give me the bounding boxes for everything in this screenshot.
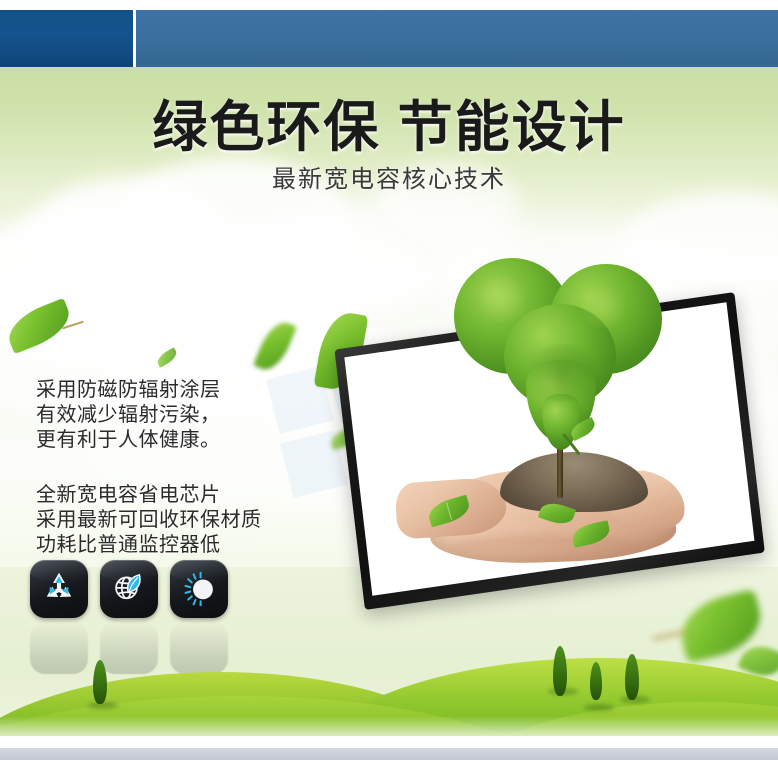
eco-badge-recycle[interactable]	[30, 560, 88, 618]
banner-left-block	[0, 10, 133, 67]
eco-badge-sun[interactable]	[170, 560, 228, 618]
feature-line: 功耗比普通监控器低	[36, 533, 262, 558]
top-blue-banner	[0, 10, 778, 67]
feature-text-anti-radiation: 采用防磁防辐射涂层 有效减少辐射污染， 更有利于人体健康。	[36, 378, 221, 453]
bottom-gray-bar	[0, 748, 778, 760]
headline-area: 绿色环保 节能设计 最新宽电容核心技术	[0, 96, 778, 195]
feature-line: 有效减少辐射污染，	[36, 403, 221, 428]
bottom-white-gap	[0, 736, 778, 748]
promo-banner-page: jou 绿色环保 节能设计 最新宽电容核心技术 采用防磁防辐射涂层 有效减少辐射…	[0, 0, 778, 760]
feature-line: 全新宽电容省电芯片	[36, 483, 262, 508]
feature-line: 更有利于人体健康。	[36, 428, 221, 453]
banner-right-block	[136, 10, 778, 67]
feature-line: 采用防磁防辐射涂层	[36, 378, 221, 403]
page-subtitle: 最新宽电容核心技术	[0, 165, 778, 195]
globe-leaf-icon	[109, 567, 149, 612]
recycle-icon	[40, 568, 78, 611]
feature-text-power-saving: 全新宽电容省电芯片 采用最新可回收环保材质 功耗比普通监控器低	[36, 483, 262, 558]
top-white-strip	[0, 0, 778, 10]
eco-badge-globe-leaf[interactable]	[100, 560, 158, 618]
grass-hills	[0, 640, 778, 750]
feature-line: 采用最新可回收环保材质	[36, 508, 262, 533]
page-title: 绿色环保 节能设计	[0, 96, 778, 158]
eco-badge-row	[30, 560, 228, 618]
sun-brightness-icon	[180, 568, 218, 611]
